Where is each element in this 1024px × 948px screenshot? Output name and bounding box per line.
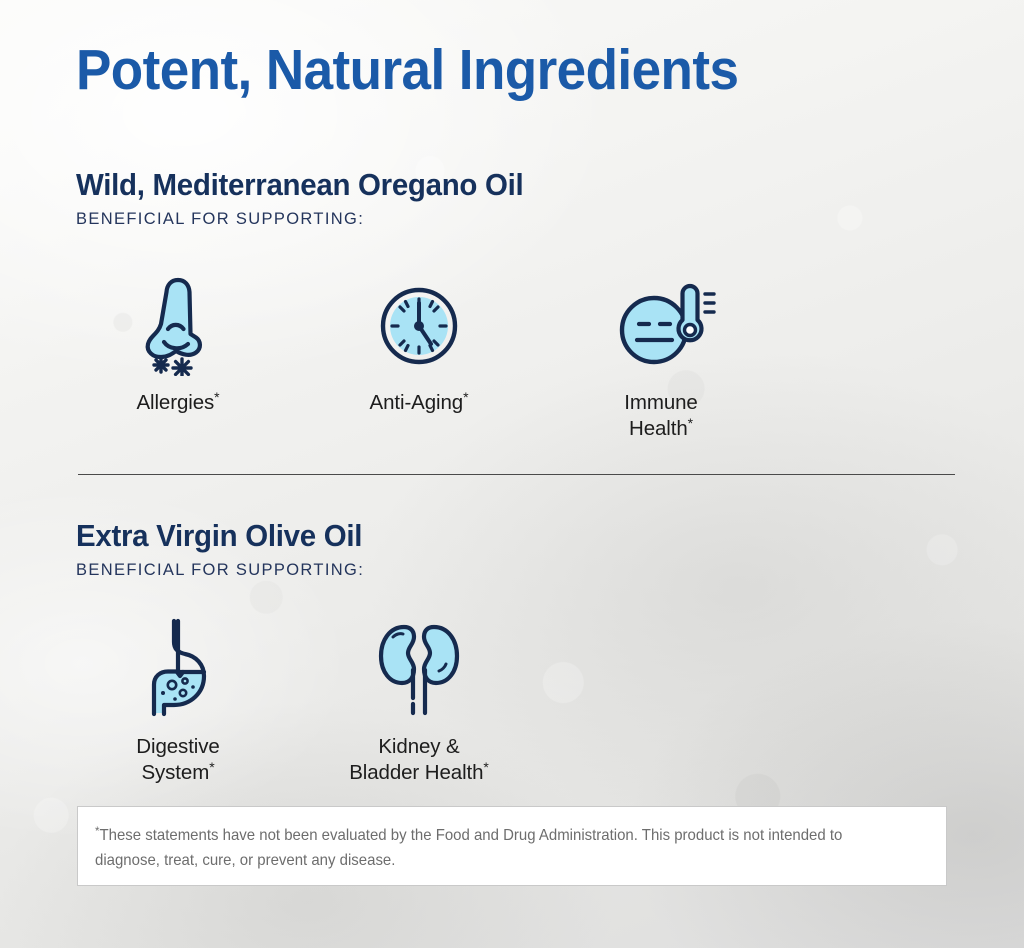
benefit-label-asterisk: *: [688, 415, 693, 431]
disclaimer-text: *These statements have not been evaluate…: [95, 823, 901, 873]
benefit-label-asterisk: *: [214, 389, 219, 405]
benefit-item-allergies: Allergies*: [78, 268, 278, 416]
benefit-label: Digestive System*: [78, 734, 278, 786]
stomach-icon: [78, 612, 278, 720]
section-subheading: BENEFICIAL FOR SUPPORTING:: [76, 209, 547, 229]
benefit-label-asterisk: *: [483, 759, 488, 775]
benefit-label-line2: System: [141, 761, 209, 784]
benefit-label-line1: Allergies: [136, 391, 214, 414]
benefit-label-line1: Digestive: [78, 734, 278, 760]
benefit-label-line1: Immune: [561, 390, 761, 416]
section-heading: Extra Virgin Olive Oil: [76, 518, 362, 554]
clock-icon: [319, 268, 519, 376]
disclaimer-box: *These statements have not been evaluate…: [77, 806, 947, 886]
benefit-label-line1: Anti-Aging: [370, 391, 464, 414]
benefit-label-line2-wrap: Health*: [561, 416, 761, 442]
face-thermometer-icon: [561, 268, 761, 376]
benefit-item-digestive-system: Digestive System*: [78, 612, 278, 786]
benefit-label-line2-wrap: System*: [78, 760, 278, 786]
section-oregano-oil: Wild, Mediterranean Oregano Oil BENEFICI…: [76, 167, 547, 229]
page-title: Potent, Natural Ingredients: [76, 36, 738, 104]
benefit-label: Kidney & Bladder Health*: [319, 734, 519, 786]
section-heading: Wild, Mediterranean Oregano Oil: [76, 167, 523, 203]
benefit-label-line2: Bladder Health: [349, 761, 483, 784]
benefit-label-line1: Kidney &: [319, 734, 519, 760]
section-olive-oil: Extra Virgin Olive Oil BENEFICIAL FOR SU…: [76, 518, 377, 580]
section-subheading: BENEFICIAL FOR SUPPORTING:: [76, 560, 377, 580]
benefit-item-anti-aging: Anti-Aging*: [319, 268, 519, 416]
benefit-label-line2-wrap: Bladder Health*: [319, 760, 519, 786]
nose-allergy-icon: [78, 268, 278, 376]
benefit-label: Immune Health*: [561, 390, 761, 442]
benefit-label: Anti-Aging*: [319, 390, 519, 416]
benefit-item-kidney-bladder-health: Kidney & Bladder Health*: [319, 612, 519, 786]
benefit-label-asterisk: *: [209, 759, 214, 775]
benefit-item-immune-health: Immune Health*: [561, 268, 761, 442]
benefit-label: Allergies*: [78, 390, 278, 416]
disclaimer-body: These statements have not been evaluated…: [95, 827, 842, 869]
section-divider: [78, 474, 955, 475]
infographic-page: Potent, Natural Ingredients Wild, Medite…: [0, 0, 1024, 948]
kidneys-icon: [319, 612, 519, 720]
benefit-label-asterisk: *: [463, 389, 468, 405]
benefit-label-line2: Health: [629, 417, 688, 440]
